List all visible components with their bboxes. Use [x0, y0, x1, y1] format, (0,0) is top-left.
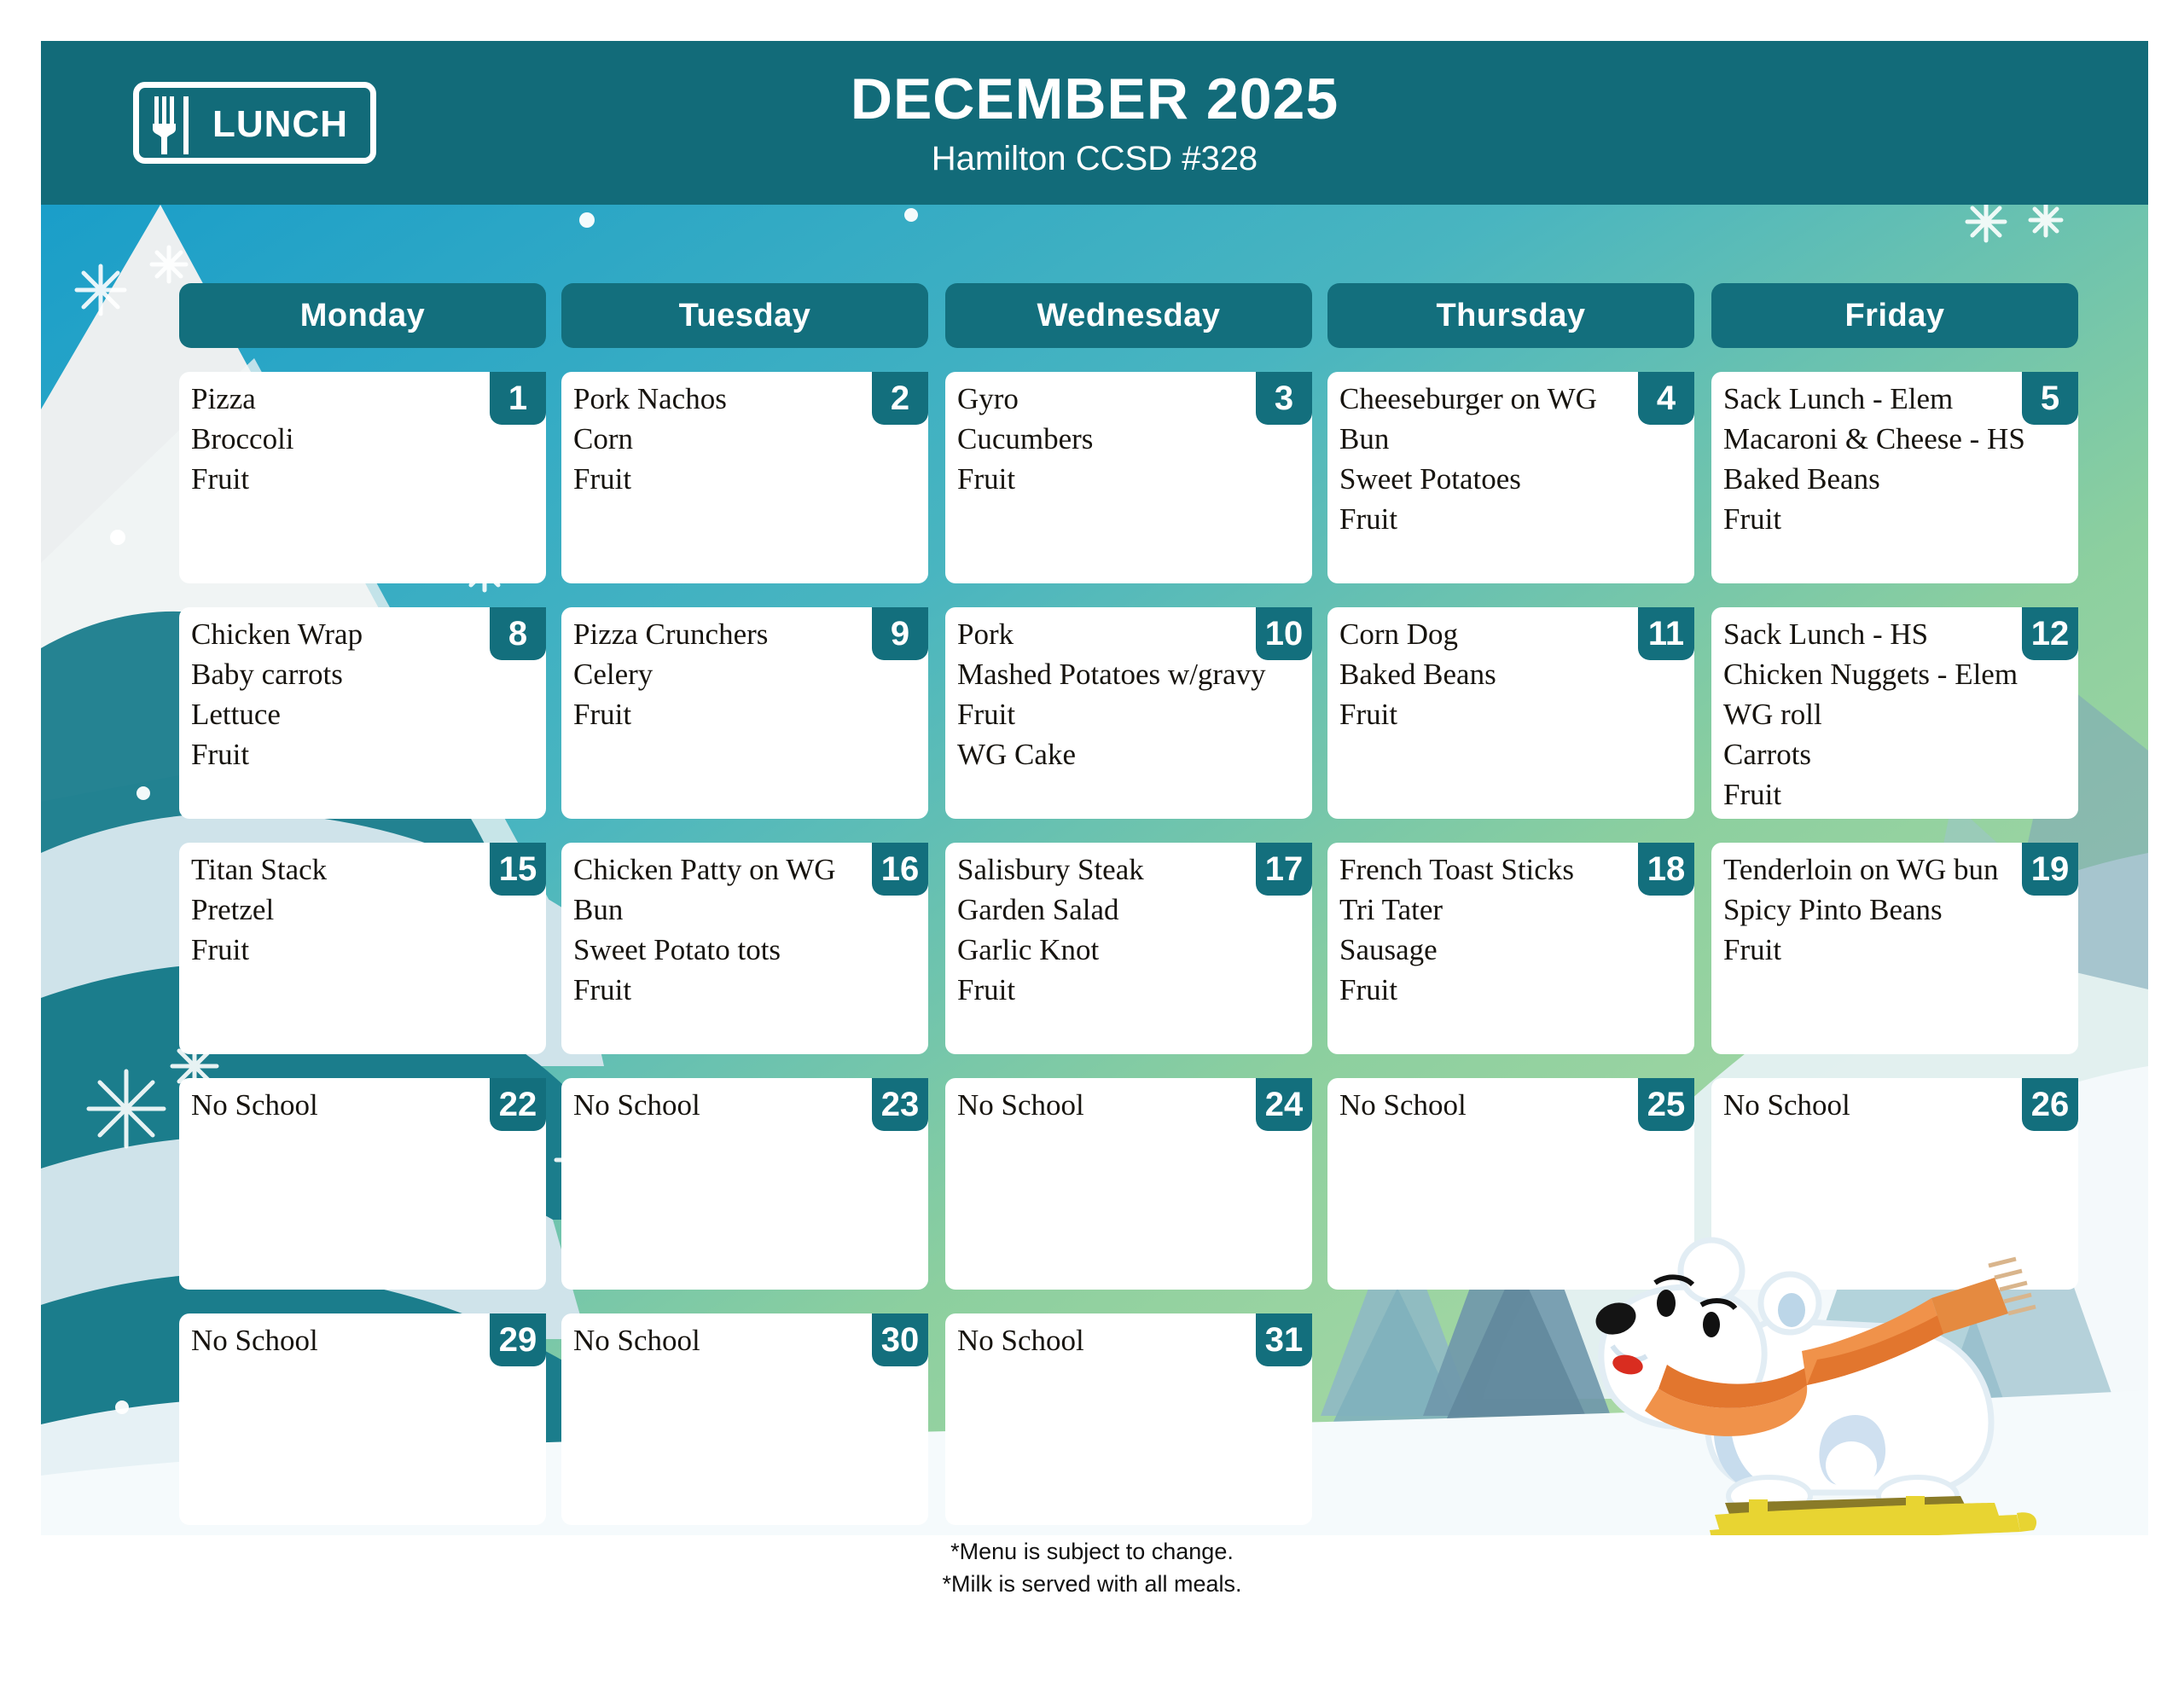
date-badge: 17: [1256, 843, 1312, 896]
date-badge: 26: [2022, 1078, 2078, 1131]
date-badge: 1: [490, 372, 546, 425]
date-badge: 30: [872, 1313, 928, 1366]
menu-item: WG roll: [1723, 694, 2075, 734]
day-header-row: MondayTuesdayWednesdayThursdayFriday: [41, 283, 2148, 348]
menu-item: Carrots: [1723, 734, 2075, 774]
menu-item: Fruit: [1723, 499, 2075, 539]
date-badge: 8: [490, 607, 546, 660]
note-line-2: *Milk is served with all meals.: [0, 1568, 2184, 1600]
lunch-menu-calendar-page: LUNCH DECEMBER 2025 Hamilton CCSD #328 M…: [0, 0, 2184, 1699]
menu-item: WG Cake: [957, 734, 1309, 774]
date-badge: 18: [1638, 843, 1694, 896]
menu-item: Sweet Potatoes: [1339, 459, 1691, 499]
menu-item: Fruit: [957, 459, 1309, 499]
menu-item: Lettuce: [191, 694, 543, 734]
menu-item: Baby carrots: [191, 654, 543, 694]
date-badge: 5: [2022, 372, 2078, 425]
menu-item: Chicken Nuggets - Elem: [1723, 654, 2075, 694]
menu-item: Baked Beans: [1723, 459, 2075, 499]
page-title: DECEMBER 2025: [41, 70, 2148, 128]
page-subtitle: Hamilton CCSD #328: [41, 140, 2148, 178]
menu-item: Cucumbers: [957, 419, 1309, 459]
date-badge: 25: [1638, 1078, 1694, 1131]
date-badge: 9: [872, 607, 928, 660]
day-header-tuesday: Tuesday: [561, 283, 928, 348]
menu-item: Fruit: [191, 930, 543, 970]
menu-item: Fruit: [957, 970, 1309, 1010]
day-header-monday: Monday: [179, 283, 546, 348]
menu-item: Pretzel: [191, 890, 543, 930]
date-badge: 10: [1256, 607, 1312, 660]
menu-item: Baked Beans: [1339, 654, 1691, 694]
menu-item: Fruit: [191, 734, 543, 774]
day-header-label: Thursday: [1436, 298, 1585, 334]
day-header-label: Wednesday: [1037, 298, 1221, 334]
menu-item: Broccoli: [191, 419, 543, 459]
menu-item: Sausage: [1339, 930, 1691, 970]
menu-item: Bun: [1339, 419, 1691, 459]
title-block: DECEMBER 2025 Hamilton CCSD #328: [41, 70, 2148, 178]
menu-item: Fruit: [1723, 930, 2075, 970]
menu-item: Spicy Pinto Beans: [1723, 890, 2075, 930]
day-header-thursday: Thursday: [1327, 283, 1694, 348]
date-badge: 11: [1638, 607, 1694, 660]
menu-item: Bun: [573, 890, 925, 930]
day-header-label: Monday: [300, 298, 426, 334]
date-badge: 12: [2022, 607, 2078, 660]
menu-item: Fruit: [957, 694, 1309, 734]
date-badge: 23: [872, 1078, 928, 1131]
date-badge: 24: [1256, 1078, 1312, 1131]
date-badge: 29: [490, 1313, 546, 1366]
day-header-friday: Friday: [1711, 283, 2078, 348]
menu-item: Garlic Knot: [957, 930, 1309, 970]
poster-header: LUNCH DECEMBER 2025 Hamilton CCSD #328: [41, 41, 2148, 205]
date-badge: 22: [490, 1078, 546, 1131]
note-line-1: *Menu is subject to change.: [0, 1535, 2184, 1568]
menu-item: Garden Salad: [957, 890, 1309, 930]
menu-item: Mashed Potatoes w/gravy: [957, 654, 1309, 694]
date-badge: 4: [1638, 372, 1694, 425]
menu-item: Tri Tater: [1339, 890, 1691, 930]
date-badge: 2: [872, 372, 928, 425]
menu-item: Fruit: [573, 970, 925, 1010]
menu-item: Fruit: [1723, 774, 2075, 815]
menu-item: Fruit: [1339, 970, 1691, 1010]
date-badge: 31: [1256, 1313, 1312, 1366]
day-header-label: Friday: [1844, 298, 1944, 334]
calendar-poster: LUNCH DECEMBER 2025 Hamilton CCSD #328 M…: [41, 41, 2148, 1535]
menu-item: Fruit: [1339, 694, 1691, 734]
menu-item: Fruit: [573, 694, 925, 734]
day-header-wednesday: Wednesday: [945, 283, 1312, 348]
menu-item: Corn: [573, 419, 925, 459]
date-badge: 16: [872, 843, 928, 896]
date-badge: 15: [490, 843, 546, 896]
date-badge: 3: [1256, 372, 1312, 425]
menu-item: Celery: [573, 654, 925, 694]
menu-item: Fruit: [191, 459, 543, 499]
menu-item: Fruit: [1339, 499, 1691, 539]
footer-notes: *Menu is subject to change. *Milk is ser…: [0, 1535, 2184, 1600]
date-badge: 19: [2022, 843, 2078, 896]
polar-bear-illustration: [1517, 1209, 2148, 1535]
menu-item: Macaroni & Cheese - HS: [1723, 419, 2075, 459]
menu-item: Sweet Potato tots: [573, 930, 925, 970]
day-header-label: Tuesday: [679, 298, 811, 334]
menu-item: Fruit: [573, 459, 925, 499]
polar-bear-svg: [1517, 1209, 2148, 1535]
